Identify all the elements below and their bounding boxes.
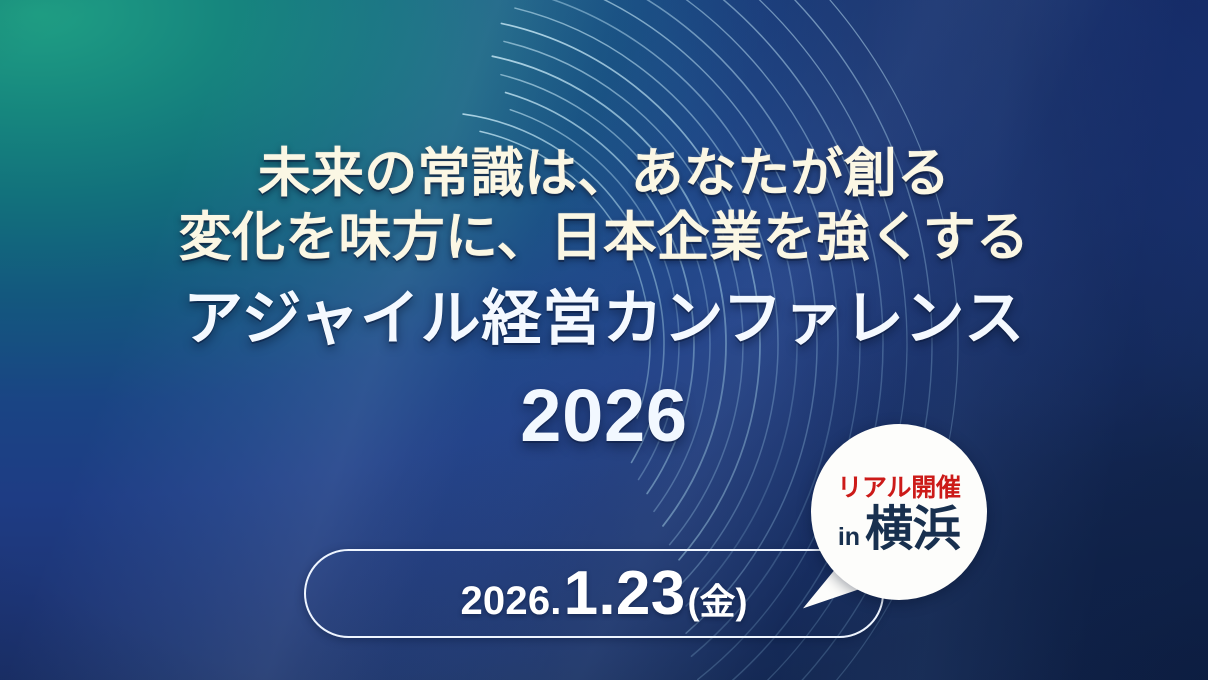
lead-line-2: 変化を味方に、日本企業を強くする bbox=[0, 207, 1208, 269]
poster-canvas: 未来の常識は、あなたが創る 変化を味方に、日本企業を強くする アジャイル経営カン… bbox=[0, 0, 1208, 680]
badge-realevent-label: リアル開催 bbox=[837, 474, 961, 502]
event-date-weekday: (金) bbox=[688, 573, 748, 625]
event-date-text: 2026. 1.23 (金) bbox=[460, 558, 747, 629]
speech-bubble-content: リアル開催 in 横浜 bbox=[811, 424, 987, 600]
page-title: アジャイル経営カンファレンス bbox=[0, 284, 1208, 354]
venue-speech-bubble-badge: リアル開催 in 横浜 bbox=[811, 424, 987, 600]
lead-line-1: 未来の常識は、あなたが創る bbox=[0, 143, 1208, 205]
event-date-year: 2026. bbox=[460, 579, 561, 624]
poster-content: 未来の常識は、あなたが創る 変化を味方に、日本企業を強くする アジャイル経営カン… bbox=[0, 0, 1208, 680]
event-year: 2026 bbox=[0, 374, 1208, 458]
badge-venue-line: in 横浜 bbox=[838, 505, 960, 555]
badge-city-label: 横浜 bbox=[865, 505, 960, 555]
event-date-month-day: 1.23 bbox=[564, 558, 686, 629]
badge-in-label: in bbox=[838, 524, 865, 555]
event-date-pill: 2026. 1.23 (金) bbox=[304, 549, 884, 638]
